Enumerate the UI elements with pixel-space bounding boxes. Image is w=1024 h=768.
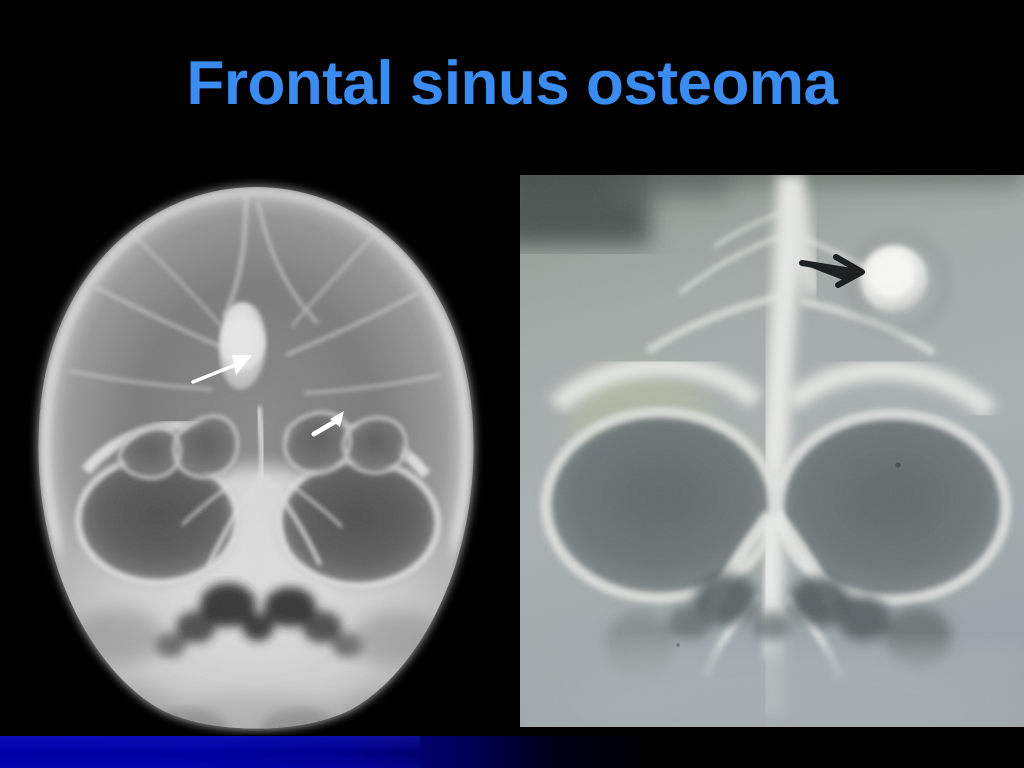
bottom-accent-band	[0, 736, 1024, 768]
radiograph-row	[0, 175, 1024, 736]
coned-frontal-sinus-radiograph	[520, 175, 1024, 735]
title-bar: Frontal sinus osteoma	[0, 0, 1024, 175]
page-title: Frontal sinus osteoma	[187, 53, 838, 115]
left-radiograph-panel	[0, 175, 512, 735]
bottom-accent-band-sheen	[0, 736, 420, 768]
caldwell-view-skull-radiograph	[0, 175, 512, 735]
right-radiograph-panel	[520, 175, 1024, 735]
slide-canvas: Frontal sinus osteoma	[0, 0, 1024, 768]
